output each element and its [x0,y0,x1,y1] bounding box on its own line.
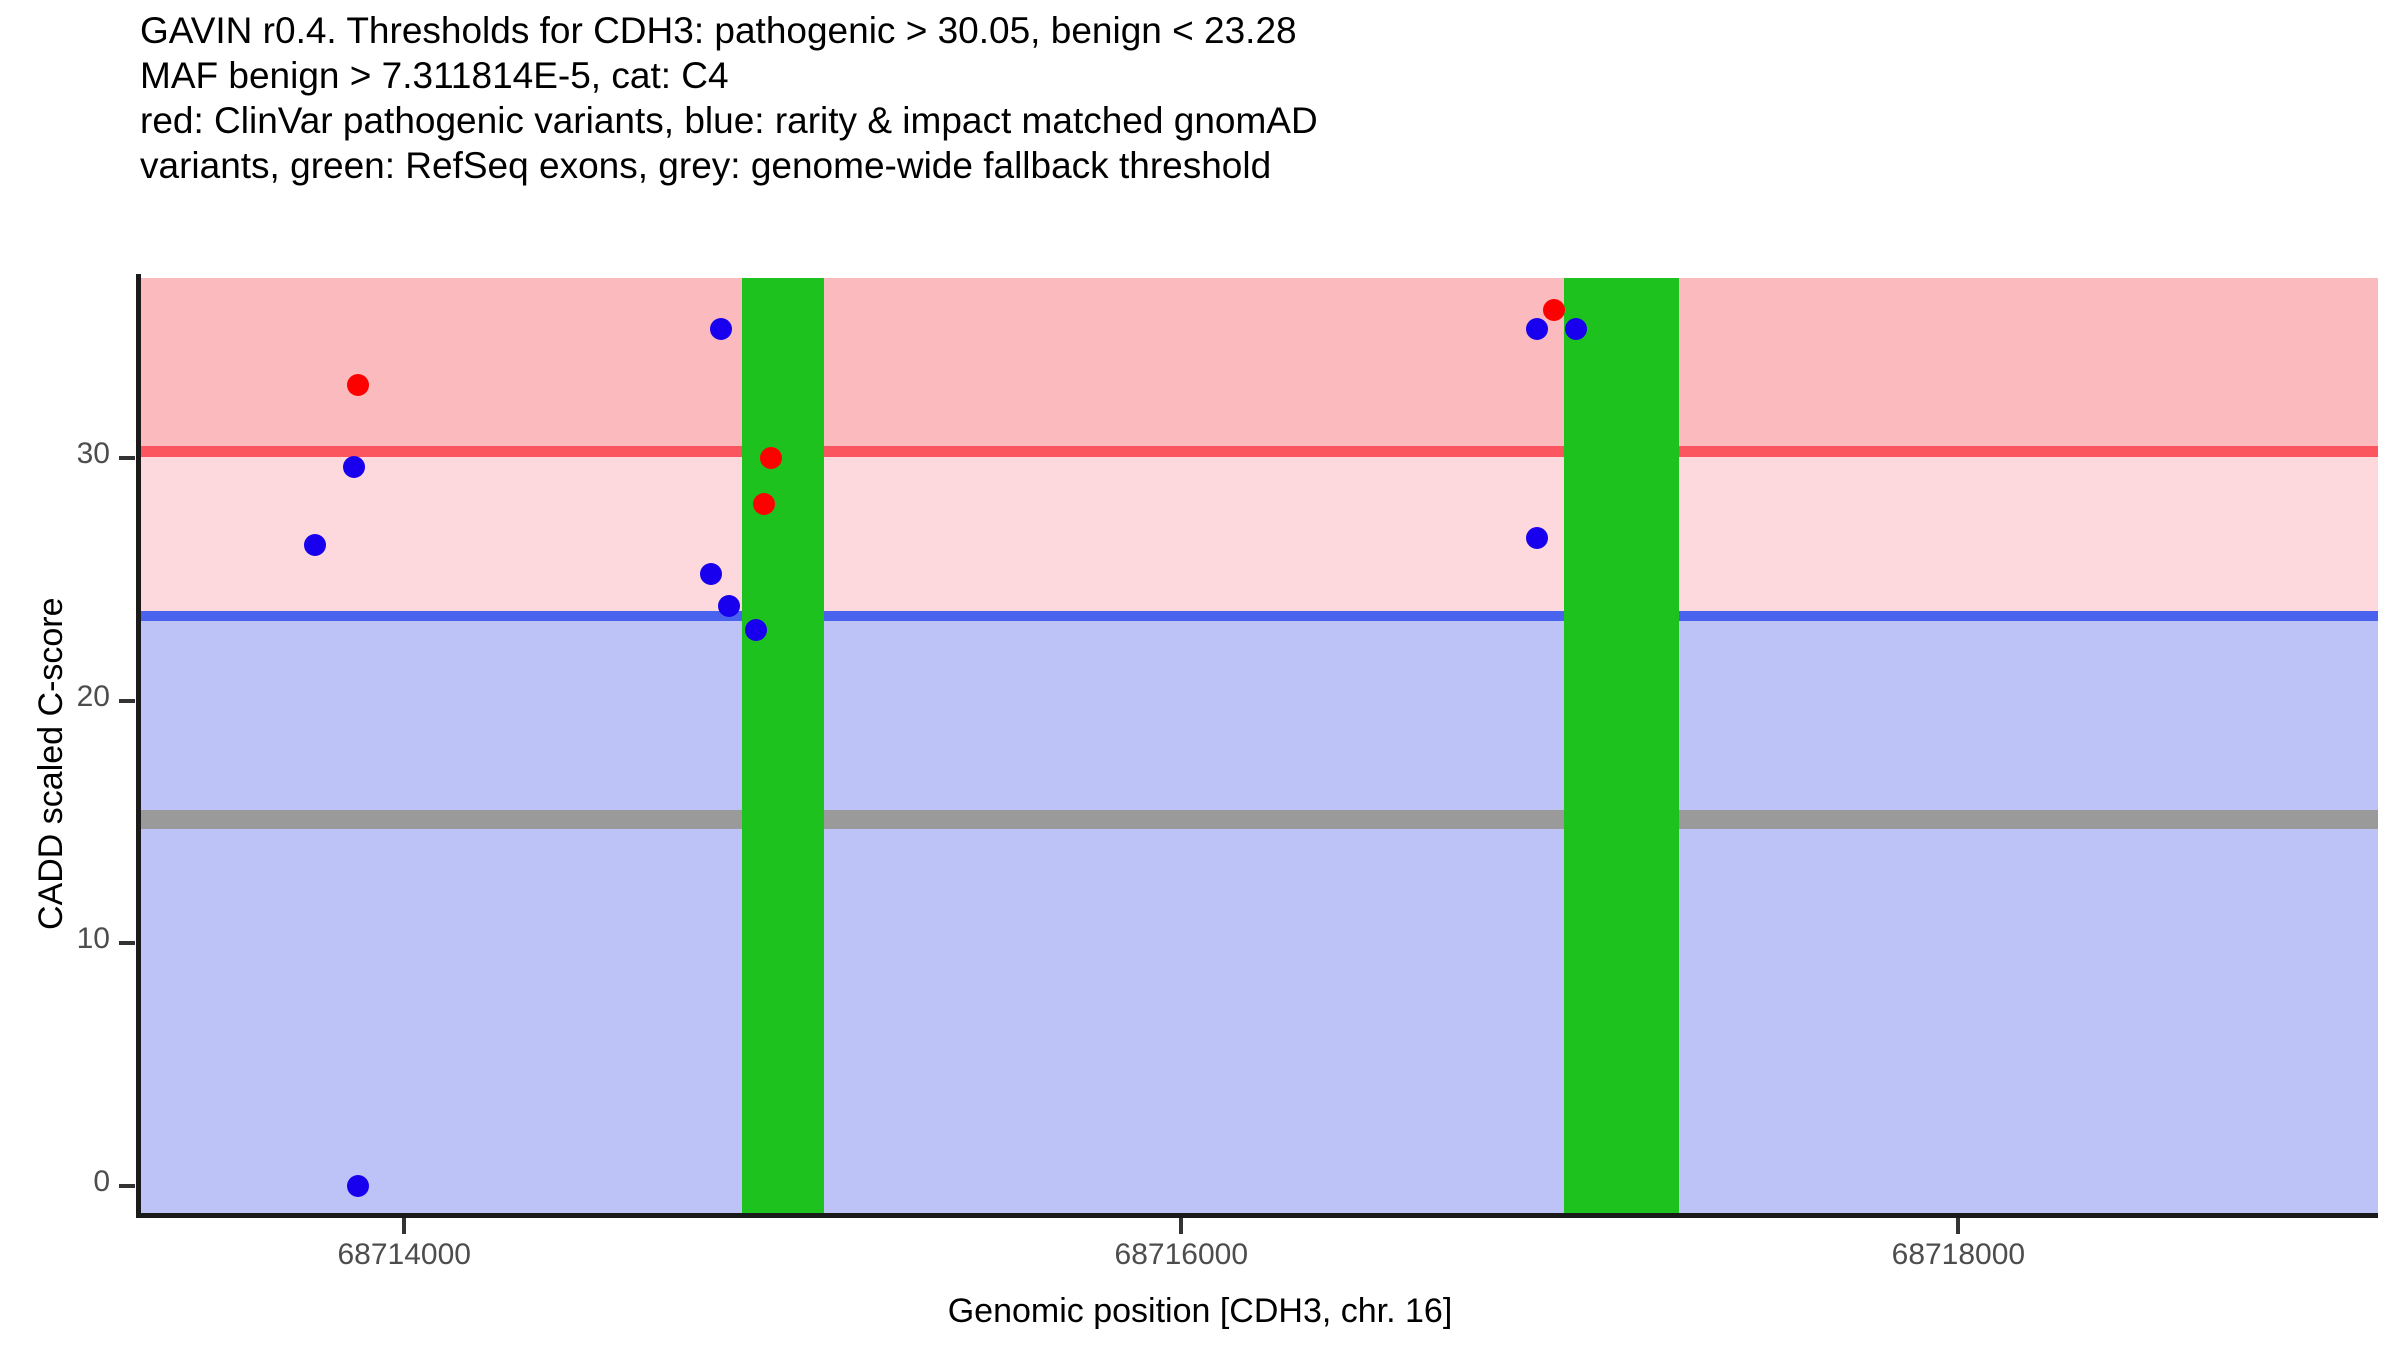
data-point-gnomad [718,595,740,617]
y-axis-line [136,274,141,1217]
y-tick-label: 0 [93,1165,110,1199]
exon-bar [1564,278,1679,1213]
y-tick-label: 30 [77,437,110,471]
y-tick-mark [119,699,135,703]
y-tick-label: 20 [77,680,110,714]
plot-panel [140,278,2378,1213]
y-tick-mark [119,941,135,945]
band-genome-wide-fallback-line [140,810,2378,829]
data-point-pathogenic [1543,299,1565,321]
title-line-3: red: ClinVar pathogenic variants, blue: … [140,98,2380,143]
x-tick-mark [402,1218,406,1234]
data-point-gnomad [1526,318,1548,340]
chart-root: GAVIN r0.4. Thresholds for CDH3: pathoge… [0,0,2400,1350]
x-tick-label: 68716000 [1115,1238,1248,1272]
data-point-gnomad [343,456,365,478]
data-point-pathogenic [753,493,775,515]
data-point-gnomad [745,619,767,641]
x-tick-label: 68718000 [1892,1238,2025,1272]
x-tick-mark [1956,1218,1960,1234]
exon-bar [742,278,824,1213]
band-vous-zone [140,457,2378,621]
x-tick-mark [1179,1218,1183,1234]
band-pathogenic-zone [140,278,2378,457]
data-point-gnomad [347,1175,369,1197]
y-tick-mark [119,456,135,460]
data-point-gnomad [1565,318,1587,340]
data-point-gnomad [710,318,732,340]
data-point-gnomad [1526,527,1548,549]
data-point-pathogenic [760,447,782,469]
x-tick-label: 68714000 [337,1238,470,1272]
x-axis-title: Genomic position [CDH3, chr. 16] [0,1292,2400,1331]
title-line-2: MAF benign > 7.311814E-5, cat: C4 [140,53,2380,98]
y-axis-title: CADD scaled C-score [32,597,71,930]
y-tick-mark [119,1184,135,1188]
data-point-pathogenic [347,374,369,396]
x-axis-line [136,1213,2378,1218]
plot-area [140,278,2378,1213]
data-point-gnomad [304,534,326,556]
title-line-4: variants, green: RefSeq exons, grey: gen… [140,143,2380,188]
chart-title-block: GAVIN r0.4. Thresholds for CDH3: pathoge… [140,8,2380,188]
title-line-1: GAVIN r0.4. Thresholds for CDH3: pathoge… [140,8,2380,53]
band-benign-zone [140,621,2378,1213]
y-tick-label: 10 [77,922,110,956]
